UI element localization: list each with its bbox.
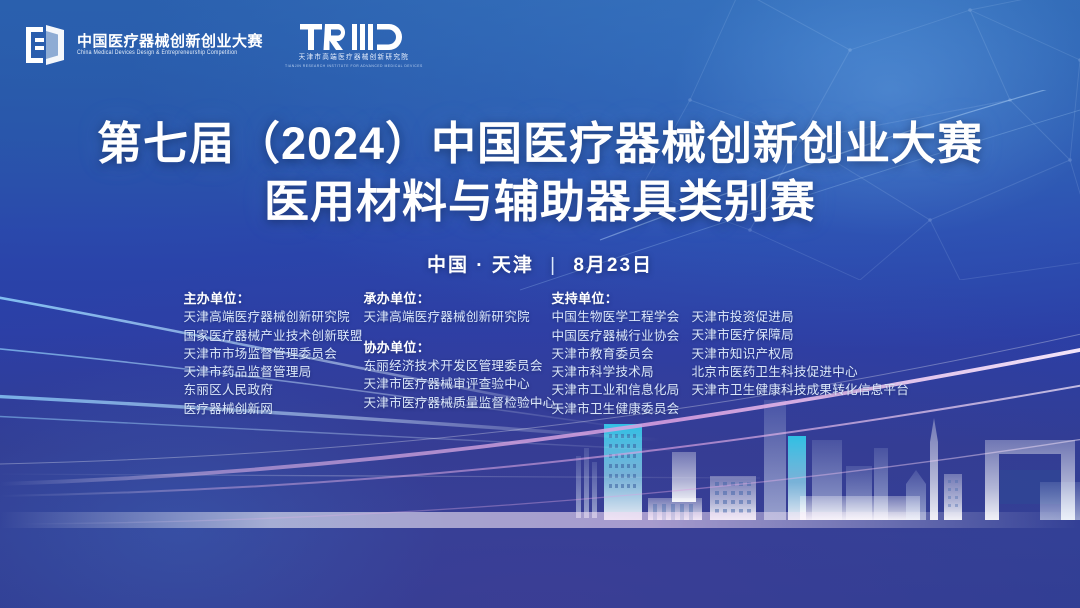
- org-item: 中国医疗器械行业协会: [552, 327, 692, 345]
- org-item: 天津市药品监督管理局: [184, 363, 364, 381]
- open-door-mark-icon: [24, 25, 68, 65]
- org-item: 天津市医疗器械审评查验中心: [364, 375, 552, 393]
- dateline-separator: |: [550, 255, 557, 277]
- organizations-columns: 主办单位： 天津高端医疗器械创新研究院 国家医疗器械产业技术创新联盟 天津市市场…: [184, 290, 897, 418]
- org-item: 医疗器械创新网: [184, 400, 364, 418]
- trimd-logo-cn: 天津市高端医疗器械创新研究院: [299, 55, 410, 62]
- org-item: 天津市医疗器械质量监督检验中心: [364, 394, 552, 412]
- org-heading: 承办单位：: [364, 290, 552, 308]
- column-gap: [364, 327, 552, 339]
- dateline-place: 中国 · 天津: [427, 255, 534, 276]
- trimd-logo-en: TIANJIN RESEARCH INSTITUTE FOR ADVANCED …: [285, 65, 423, 68]
- org-item: 天津市工业和信息化局: [552, 381, 692, 399]
- cmde-logo-text: 中国医疗器械创新创业大赛 China Medical Devices Desig…: [77, 34, 263, 56]
- org-column-3: 支持单位： 中国生物医学工程学会 中国医疗器械行业协会 天津市教育委员会 天津市…: [552, 290, 692, 418]
- event-poster: 中国医疗器械创新创业大赛 China Medical Devices Desig…: [0, 0, 1080, 608]
- org-item: 天津市教育委员会: [552, 345, 692, 363]
- org-column-1: 主办单位： 天津高端医疗器械创新研究院 国家医疗器械产业技术创新联盟 天津市市场…: [184, 290, 364, 418]
- org-heading: 支持单位：: [552, 290, 692, 308]
- org-item: 北京市医药卫生科技促进中心: [692, 363, 897, 381]
- dateline-date: 8月23日: [573, 255, 653, 276]
- org-item: 天津市医疗保障局: [692, 326, 897, 344]
- org-item: 国家医疗器械产业技术创新联盟: [184, 327, 364, 345]
- org-item: 天津市市场监督管理委员会: [184, 345, 364, 363]
- org-column-2: 承办单位： 天津高端医疗器械创新研究院 协办单位： 东丽经济技术开发区管理委员会…: [364, 290, 552, 412]
- org-column-4: 天津市投资促进局 天津市医疗保障局 天津市知识产权局 北京市医药卫生科技促进中心…: [692, 290, 897, 399]
- cmde-logo-cn: 中国医疗器械创新创业大赛: [77, 34, 263, 49]
- org-item: 东丽区人民政府: [184, 381, 364, 399]
- org-heading: 协办单位：: [364, 339, 552, 357]
- title-line-1: 第七届（2024）中国医疗器械创新创业大赛: [0, 118, 1080, 170]
- trimd-wordmark-icon: [300, 22, 408, 52]
- org-item: 中国生物医学工程学会: [552, 308, 692, 326]
- org-item: 天津市卫生健康科技成果转化信息平台: [692, 381, 897, 399]
- dateline: 中国 · 天津 | 8月23日: [0, 250, 1080, 277]
- org-item: 天津高端医疗器械创新研究院: [184, 308, 364, 326]
- org-item: 天津市投资促进局: [692, 308, 897, 326]
- logo-bar: 中国医疗器械创新创业大赛 China Medical Devices Desig…: [24, 22, 423, 68]
- org-item: 东丽经济技术开发区管理委员会: [364, 357, 552, 375]
- org-item: 天津市科学技术局: [552, 363, 692, 381]
- org-heading: 主办单位：: [184, 290, 364, 308]
- org-item: 天津市卫生健康委员会: [552, 400, 692, 418]
- organizations-block: 主办单位： 天津高端医疗器械创新研究院 国家医疗器械产业技术创新联盟 天津市市场…: [0, 290, 1080, 418]
- title-block: 第七届（2024）中国医疗器械创新创业大赛 医用材料与辅助器具类别赛 中国 · …: [0, 118, 1080, 277]
- cmde-logo-en: China Medical Devices Design & Entrepren…: [77, 51, 263, 57]
- trimd-logo: 天津市高端医疗器械创新研究院 TIANJIN RESEARCH INSTITUT…: [285, 22, 423, 68]
- cmde-logo: 中国医疗器械创新创业大赛 China Medical Devices Desig…: [24, 25, 263, 65]
- org-item: 天津市知识产权局: [692, 345, 897, 363]
- org-item: 天津高端医疗器械创新研究院: [364, 308, 552, 326]
- title-line-2: 医用材料与辅助器具类别赛: [0, 176, 1080, 228]
